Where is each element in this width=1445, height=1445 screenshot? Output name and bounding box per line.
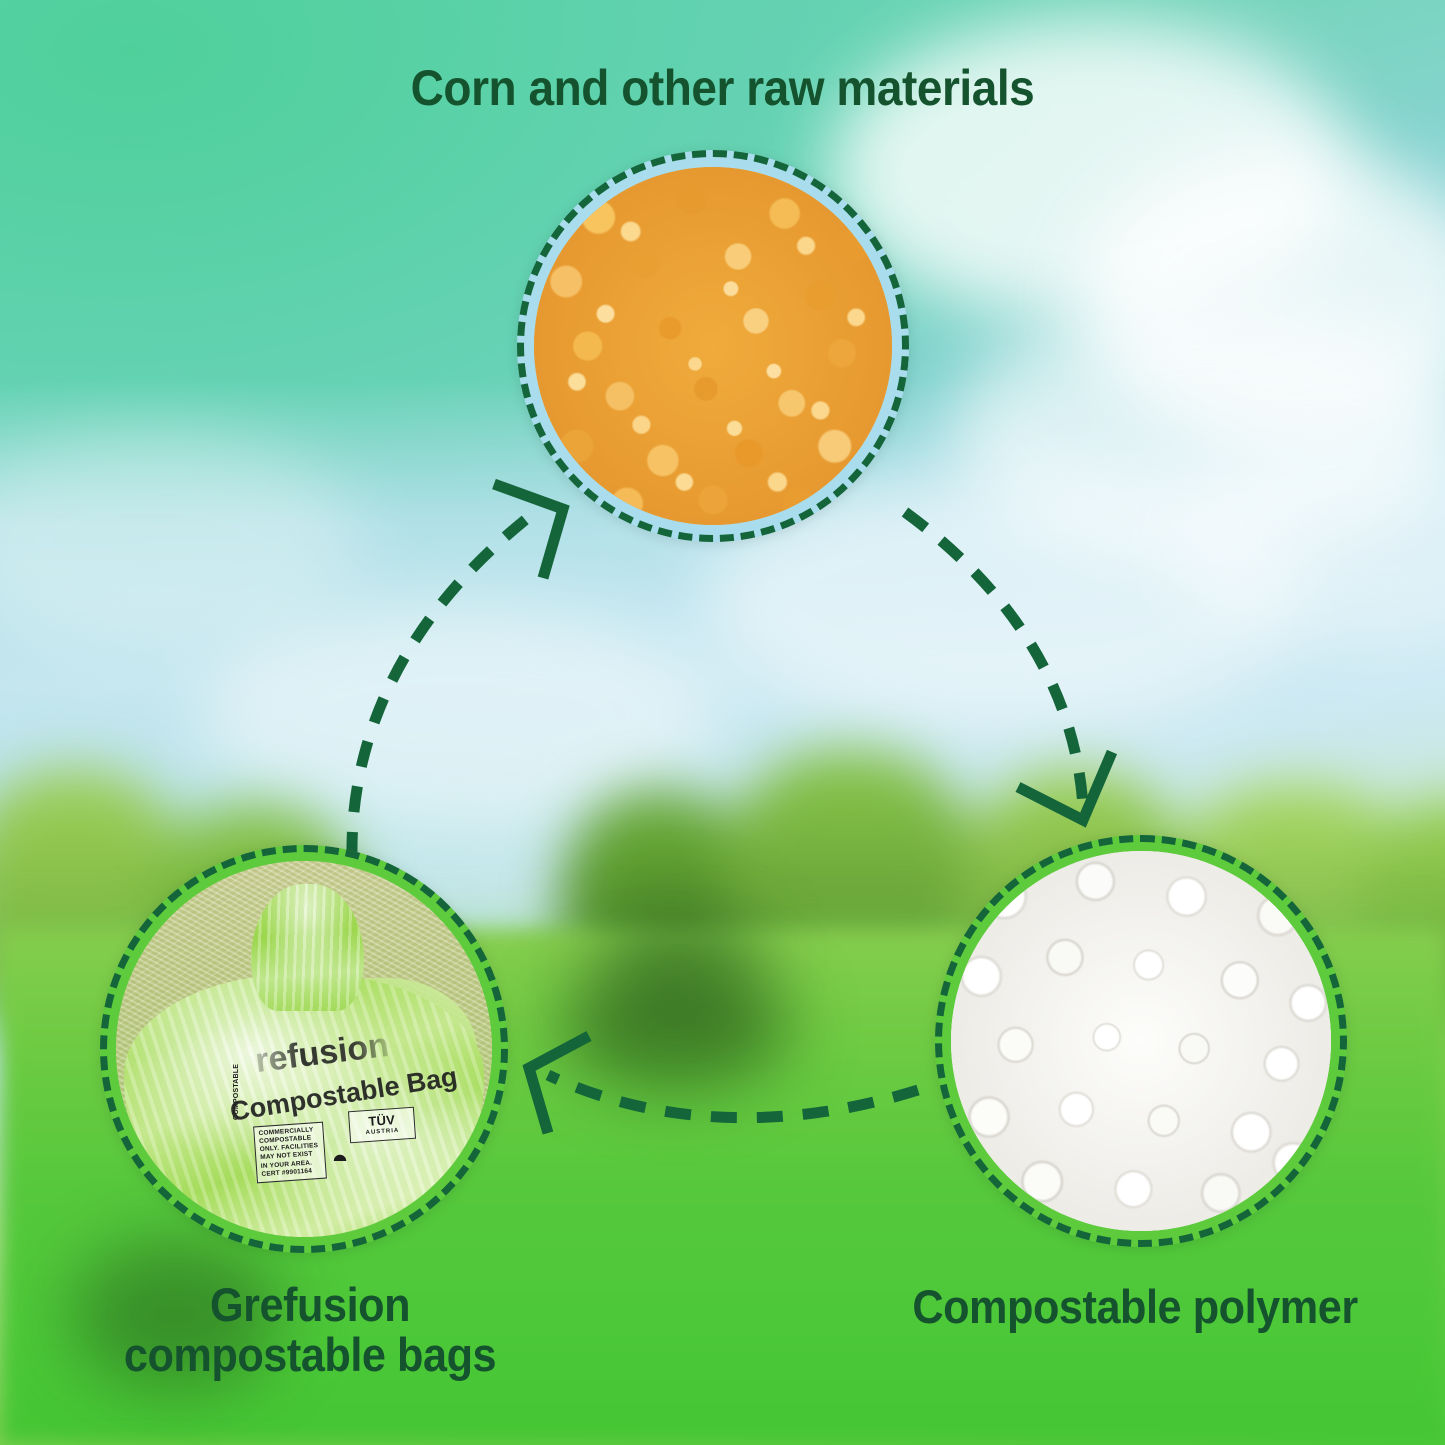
infographic-canvas: Corn and other raw materials refusion Co…	[0, 0, 1445, 1445]
node-corn-and-raw-materials[interactable]	[517, 150, 909, 542]
polymer-dashed-outline	[935, 835, 1347, 1247]
label-grefusion-compostable-bags: Grefusion compostable bags	[62, 1280, 559, 1381]
label-compostable-polymer: Compostable polymer	[868, 1282, 1402, 1332]
bags-dashed-outline	[100, 845, 508, 1253]
node-compostable-polymer[interactable]	[935, 835, 1347, 1247]
node-grefusion-compostable-bags[interactable]: refusion Compostable Bag COMMERCIALLY CO…	[100, 845, 508, 1253]
background-shadow-blob	[600, 900, 760, 1010]
page-title: Corn and other raw materials	[58, 62, 1387, 116]
corn-dashed-outline	[517, 150, 909, 542]
